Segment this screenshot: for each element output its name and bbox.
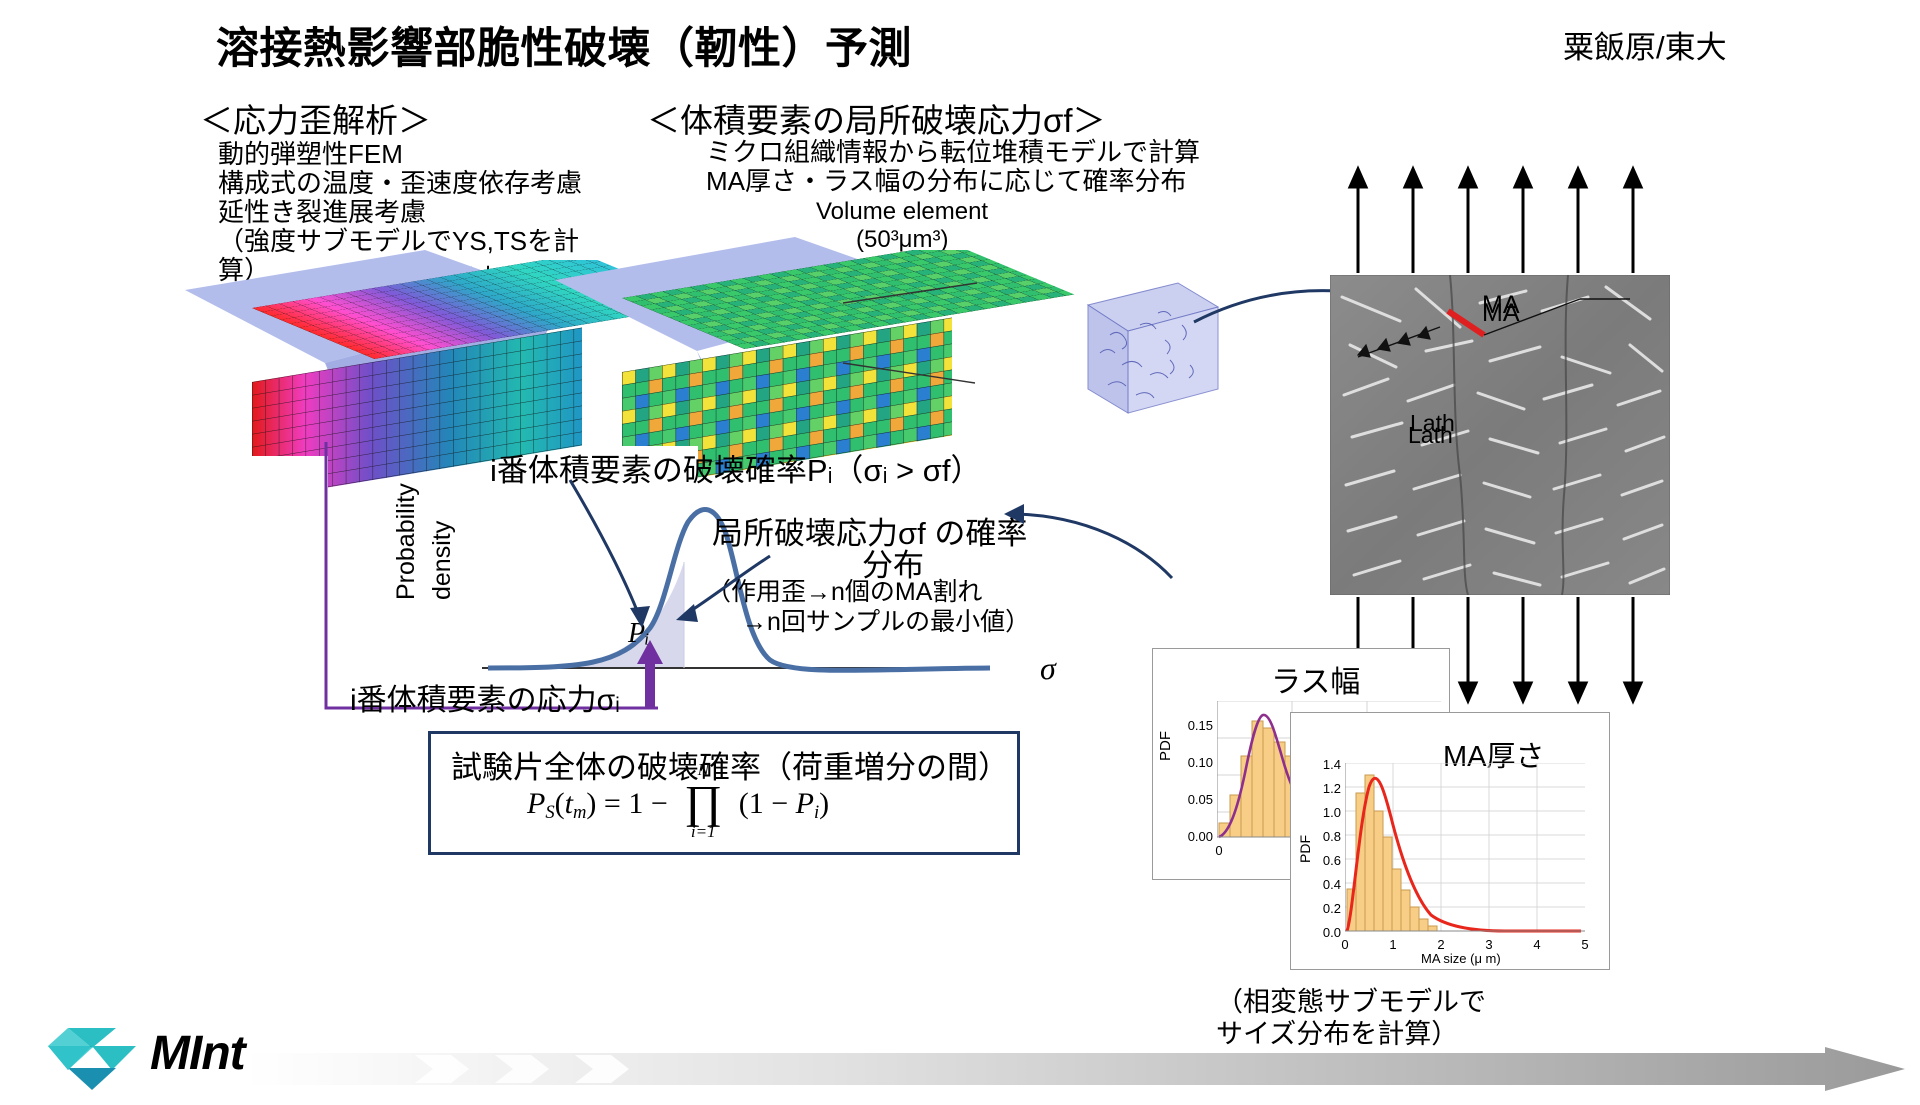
lath-ytick-3: 0.15 xyxy=(1171,718,1213,733)
mint-logo-text: MInt xyxy=(150,1026,245,1081)
formula-box: 試験片全体の破壊確率（荷重増分の間） PS(tm) = 1 − N ∏ i=1 … xyxy=(428,731,1020,855)
middle-heading-text: ＜体積要素の局所破壊応力σf＞ xyxy=(647,102,1106,139)
ma-ytick-2: 0.4 xyxy=(1307,877,1341,892)
right-note-line2: サイズ分布を計算） xyxy=(1216,1012,1458,1051)
load-arrows-up xyxy=(1330,165,1670,275)
progress-arrow-bar xyxy=(245,1047,1905,1095)
ma-xtick-2: 2 xyxy=(1433,937,1449,952)
ma-xtick-0: 0 xyxy=(1337,937,1353,952)
mint-logo-icon xyxy=(38,1022,158,1094)
sem-micrograph: MA Lath xyxy=(1330,275,1670,595)
lath-ytick-2: 0.10 xyxy=(1171,755,1213,770)
product-upper-limit: N xyxy=(675,760,731,780)
middle-panel-heading: ＜体積要素の局所破壊応力σf＞ xyxy=(647,94,1106,142)
chart-lath-width-title: ラス幅 xyxy=(1271,657,1360,701)
lath-ytick-1: 0.05 xyxy=(1171,792,1213,807)
page-title: 溶接熱影響部脆性破壊（靭性）予測 xyxy=(216,14,912,76)
chart-ma-thickness-xlabel: MA size (μ m) xyxy=(1421,951,1501,966)
ma-ytick-1: 0.2 xyxy=(1307,901,1341,916)
ma-xtick-4: 4 xyxy=(1529,937,1545,952)
stress-label: i番体積要素の応力σᵢ xyxy=(350,675,620,719)
ma-ytick-3: 0.6 xyxy=(1307,853,1341,868)
ma-xtick-3: 3 xyxy=(1481,937,1497,952)
callout-note-2: →n回サンプルの最小値） xyxy=(742,602,1030,638)
histogram-to-distribution-arrow xyxy=(990,500,1180,590)
lath-xtick-0: 0 xyxy=(1209,843,1229,858)
product-lower-limit: i=1 xyxy=(675,822,731,842)
zoom-leader-lines xyxy=(835,275,1085,415)
lath-label: Lath xyxy=(1410,410,1455,437)
lath-ytick-0: 0.00 xyxy=(1171,829,1213,844)
ma-xtick-5: 5 xyxy=(1577,937,1593,952)
formula-equation: PS(tm) = 1 − N ∏ i=1 (1 − Pi) xyxy=(527,786,829,825)
chart-ma-thickness-plot xyxy=(1345,763,1585,935)
ma-ytick-0: 0.0 xyxy=(1307,925,1341,940)
ma-xtick-1: 1 xyxy=(1385,937,1401,952)
volume-element-label: Volume element xyxy=(816,198,988,226)
ma-ytick-7: 1.4 xyxy=(1307,757,1341,772)
middle-sub-2: MA厚さ・ラス幅の分布に応じて確率分布 xyxy=(706,165,1186,199)
chart-ma-thickness: MA厚さ PDF MA size (μ m) 0.0 0.2 0.4 0.6 0… xyxy=(1290,712,1610,970)
author-label: 粟飯原/東大 xyxy=(1563,22,1727,67)
ma-ytick-6: 1.2 xyxy=(1307,781,1341,796)
ma-label: MA xyxy=(1482,291,1520,320)
ma-ytick-5: 1.0 xyxy=(1307,805,1341,820)
prob-xlabel: σ xyxy=(1040,650,1056,687)
ma-ytick-4: 0.8 xyxy=(1307,829,1341,844)
left-panel-heading: ＜応力歪解析＞ xyxy=(200,94,431,142)
